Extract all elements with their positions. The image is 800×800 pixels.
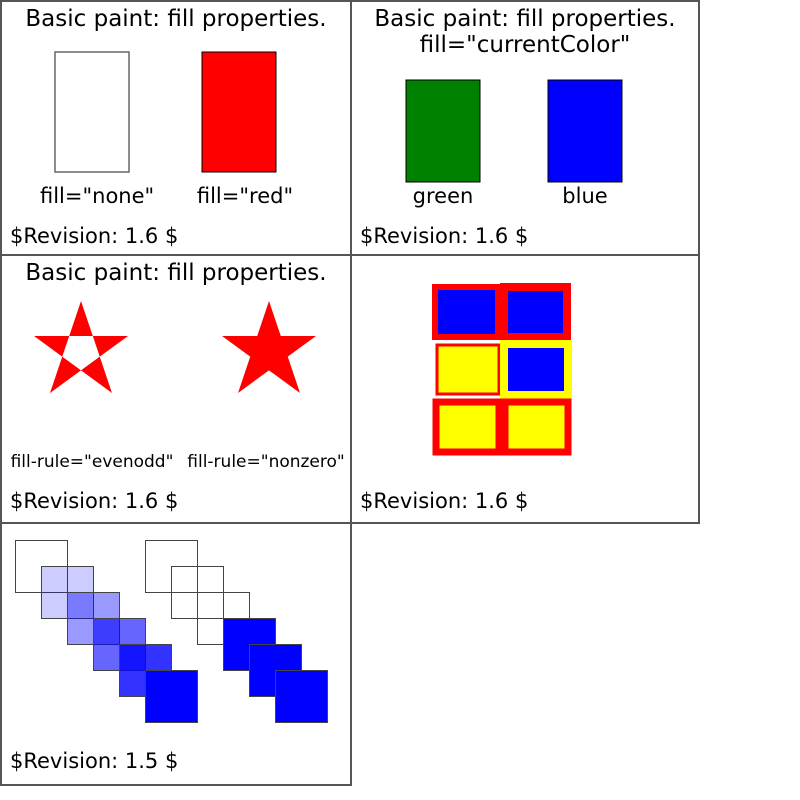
revision-label: $Revision: 1.6 $: [10, 489, 178, 513]
opacity-square: [145, 670, 198, 723]
revision-label: $Revision: 1.5 $: [10, 749, 178, 773]
currentcolor-graphic: [352, 2, 698, 254]
grid-cell-2: [504, 287, 567, 337]
panel-fill-rule: Basic paint: fill properties. fill-rule=…: [0, 254, 352, 524]
fill-basic-graphic: [2, 2, 350, 254]
caption-fill-none: fill="none": [40, 184, 144, 208]
stroke-grid-graphic: [352, 256, 698, 522]
star-nonzero: [222, 301, 316, 393]
star-evenodd: [34, 301, 128, 393]
grid-cell-1: [435, 287, 498, 337]
grid-cell-6: [505, 402, 568, 452]
revision-label: $Revision: 1.6 $: [360, 489, 528, 513]
caption-fill-red: fill="red": [195, 184, 295, 208]
rect-fill-green: [406, 80, 480, 182]
caption-green: green: [392, 184, 494, 208]
grid-cell-4: [504, 344, 568, 395]
grid-cell-3: [437, 345, 499, 394]
grid-cell-5: [436, 402, 499, 452]
panel-fill-basic: Basic paint: fill properties. fill="none…: [0, 0, 352, 256]
revision-label: $Revision: 1.6 $: [10, 224, 178, 248]
caption-blue: blue: [540, 184, 630, 208]
panel-stroke-grid: $Revision: 1.6 $: [350, 254, 700, 524]
test-sheet: Basic paint: fill properties. fill="none…: [0, 0, 800, 800]
caption-fill-rule-evenodd: fill-rule="evenodd": [6, 452, 178, 472]
opacity-square: [275, 670, 328, 723]
rect-fill-blue: [548, 80, 622, 182]
rect-fill-none: [55, 52, 129, 172]
fill-rule-graphic: [2, 256, 350, 522]
rect-fill-red: [202, 52, 276, 172]
revision-label: $Revision: 1.6 $: [360, 224, 528, 248]
caption-fill-rule-nonzero: fill-rule="nonzero": [182, 452, 350, 472]
panel-currentcolor: Basic paint: fill properties. fill="curr…: [350, 0, 700, 256]
panel-opacity: $Revision: 1.5 $: [0, 522, 352, 786]
